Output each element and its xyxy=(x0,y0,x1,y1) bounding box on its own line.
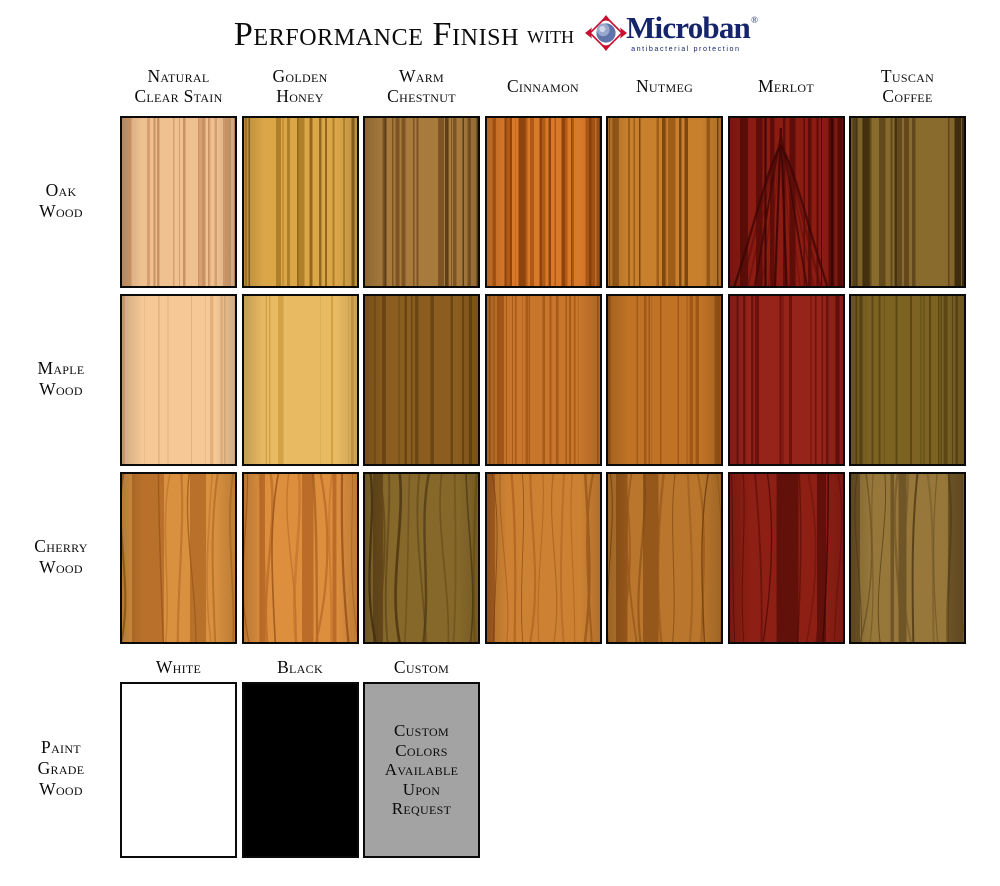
page-title: Performance Finish xyxy=(234,16,519,54)
row-label-line1: Oak xyxy=(6,180,116,201)
row-label-line2: Wood xyxy=(6,379,116,400)
column-header-nutmeg: Nutmeg xyxy=(606,76,723,96)
column-header-line2: Clear Stain xyxy=(120,86,237,106)
swatch-shading xyxy=(730,118,843,286)
swatch-cherry-wood-golden-honey[interactable] xyxy=(242,472,359,644)
swatch-shading xyxy=(487,296,600,464)
microban-wordmark: Microban xyxy=(626,11,750,45)
microban-diamond-sphere-icon xyxy=(584,14,628,52)
microban-registered-icon: ® xyxy=(751,15,758,25)
swatch-oak-wood-nutmeg[interactable] xyxy=(606,116,723,288)
swatch-shading xyxy=(365,118,478,286)
microban-logo: Microban ® antibacterial protection xyxy=(584,11,766,59)
column-header-line1: Natural xyxy=(120,66,237,86)
custom-note-line4: Upon xyxy=(403,780,440,800)
swatch-shading xyxy=(365,474,478,642)
column-header-cinnamon: Cinnamon xyxy=(485,76,602,96)
row-label-paint-grade-wood: PaintGradeWood xyxy=(6,737,116,800)
swatch-maple-wood-nutmeg[interactable] xyxy=(606,294,723,466)
swatch-shading xyxy=(122,474,235,642)
column-header-line1: Warm xyxy=(363,66,480,86)
swatch-maple-wood-natural-clear-stain[interactable] xyxy=(120,294,237,466)
swatch-oak-wood-cinnamon[interactable] xyxy=(485,116,602,288)
swatch-maple-wood-tuscan-coffee[interactable] xyxy=(849,294,966,466)
row-label-line2: Wood xyxy=(6,557,116,578)
swatch-cherry-wood-warm-chestnut[interactable] xyxy=(363,472,480,644)
paint-column-header-white: White xyxy=(120,657,237,677)
column-header-merlot: Merlot xyxy=(728,76,845,96)
row-label-line2: Grade xyxy=(6,758,116,779)
row-label-cherry-wood: CherryWood xyxy=(6,536,116,578)
column-header-line1: Golden xyxy=(242,66,359,86)
swatch-shading xyxy=(487,474,600,642)
swatch-shading xyxy=(608,118,721,286)
column-header-golden-honey: GoldenHoney xyxy=(242,66,359,106)
swatch-oak-wood-warm-chestnut[interactable] xyxy=(363,116,480,288)
swatch-cherry-wood-tuscan-coffee[interactable] xyxy=(849,472,966,644)
custom-note-line1: Custom xyxy=(394,721,449,741)
row-label-maple-wood: MapleWood xyxy=(6,358,116,400)
swatch-oak-wood-natural-clear-stain[interactable] xyxy=(120,116,237,288)
swatch-maple-wood-merlot[interactable] xyxy=(728,294,845,466)
column-header-line2: Coffee xyxy=(849,86,966,106)
row-label-line2: Wood xyxy=(6,201,116,222)
swatch-shading xyxy=(244,296,357,464)
swatch-shading xyxy=(851,118,964,286)
swatch-shading xyxy=(608,296,721,464)
swatch-shading xyxy=(244,118,357,286)
paint-column-header-black: Black xyxy=(242,657,359,677)
paint-column-header-custom: Custom xyxy=(363,657,480,677)
column-header-line2: Chestnut xyxy=(363,86,480,106)
column-header-line1: Cinnamon xyxy=(485,76,602,96)
page-title-connector: with xyxy=(527,22,574,50)
column-header-warm-chestnut: WarmChestnut xyxy=(363,66,480,106)
swatch-shading xyxy=(122,118,235,286)
column-header-tuscan-coffee: TuscanCoffee xyxy=(849,66,966,106)
swatch-shading xyxy=(487,118,600,286)
swatch-shading xyxy=(730,296,843,464)
custom-note-line3: Available xyxy=(385,760,458,780)
swatch-shading xyxy=(244,474,357,642)
row-label-line1: Maple xyxy=(6,358,116,379)
paint-swatch-white[interactable] xyxy=(120,682,237,858)
column-header-natural-clear-stain: NaturalClear Stain xyxy=(120,66,237,106)
swatch-shading xyxy=(730,474,843,642)
swatch-oak-wood-golden-honey[interactable] xyxy=(242,116,359,288)
swatch-cherry-wood-natural-clear-stain[interactable] xyxy=(120,472,237,644)
row-label-line1: Paint xyxy=(6,737,116,758)
paint-swatch-black[interactable] xyxy=(242,682,359,858)
swatch-maple-wood-cinnamon[interactable] xyxy=(485,294,602,466)
swatch-shading xyxy=(365,296,478,464)
custom-colors-note: CustomColorsAvailableUponRequest xyxy=(365,684,478,856)
swatch-shading xyxy=(851,474,964,642)
swatch-maple-wood-warm-chestnut[interactable] xyxy=(363,294,480,466)
column-header-line1: Nutmeg xyxy=(606,76,723,96)
swatch-shading xyxy=(608,474,721,642)
swatch-shading xyxy=(851,296,964,464)
column-header-line1: Tuscan xyxy=(849,66,966,86)
swatch-cherry-wood-cinnamon[interactable] xyxy=(485,472,602,644)
column-header-line1: Merlot xyxy=(728,76,845,96)
row-label-oak-wood: OakWood xyxy=(6,180,116,222)
swatch-cherry-wood-merlot[interactable] xyxy=(728,472,845,644)
custom-note-line2: Colors xyxy=(395,741,447,761)
swatch-cherry-wood-nutmeg[interactable] xyxy=(606,472,723,644)
row-label-line1: Cherry xyxy=(6,536,116,557)
swatch-oak-wood-tuscan-coffee[interactable] xyxy=(849,116,966,288)
page-title-bar: Performance Finish with Microban ® antib… xyxy=(0,10,1000,60)
column-header-line2: Honey xyxy=(242,86,359,106)
swatch-shading xyxy=(122,296,235,464)
custom-note-line5: Request xyxy=(392,799,451,819)
row-label-line3: Wood xyxy=(6,779,116,800)
microban-tagline: antibacterial protection xyxy=(631,44,741,53)
swatch-maple-wood-golden-honey[interactable] xyxy=(242,294,359,466)
paint-swatch-custom[interactable]: CustomColorsAvailableUponRequest xyxy=(363,682,480,858)
swatch-oak-wood-merlot[interactable] xyxy=(728,116,845,288)
